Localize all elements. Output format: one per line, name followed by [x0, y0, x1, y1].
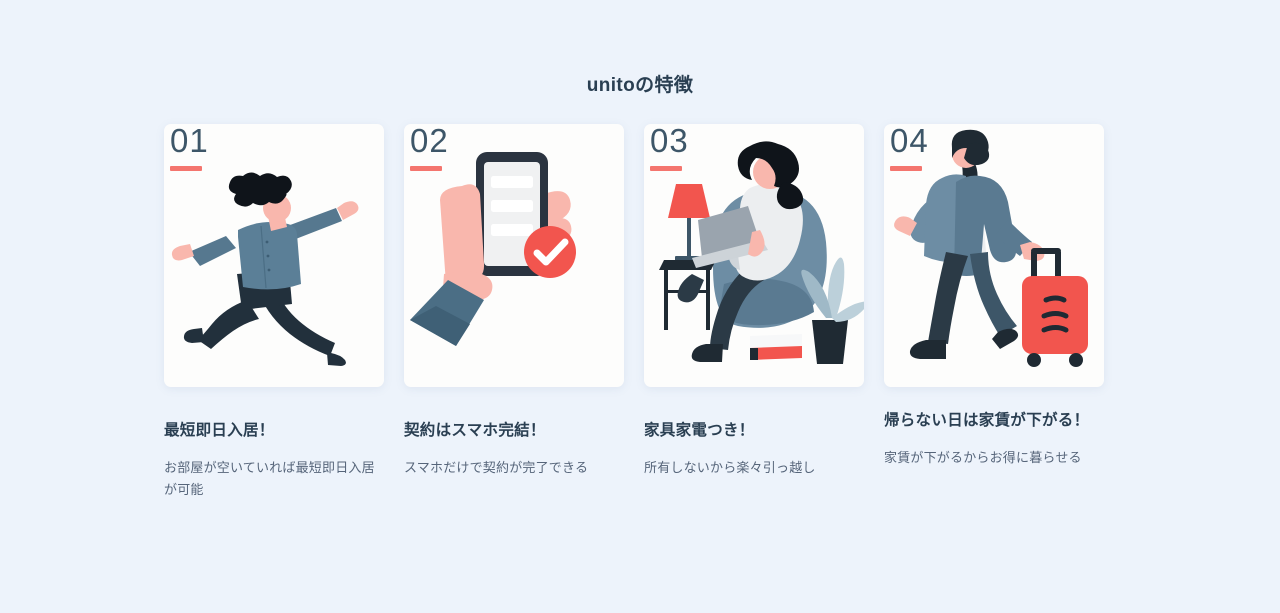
person-on-armchair-with-laptop-illustration	[644, 124, 864, 387]
feature-card[interactable]: 01	[164, 124, 384, 503]
number-underline	[410, 166, 442, 171]
card-body: お部屋が空いていれば最短即日入居が可能	[164, 457, 384, 503]
feature-card[interactable]: 04	[884, 124, 1104, 470]
card-illustration-frame	[644, 124, 864, 387]
card-number: 01	[170, 124, 384, 157]
feature-cards-row: 01	[0, 124, 1280, 503]
number-underline	[890, 166, 922, 171]
card-body: 家賃が下がるからお得に暮らせる	[884, 447, 1104, 470]
card-body: 所有しないから楽々引っ越し	[644, 457, 864, 480]
card-heading: 契約はスマホ完結！	[404, 419, 624, 443]
hand-holding-smartphone-check-illustration	[404, 124, 624, 387]
card-number: 04	[890, 124, 1104, 157]
feature-card[interactable]: 02	[404, 124, 624, 480]
card-heading: 家具家電つき！	[644, 419, 864, 443]
features-section: unitoの特徴 01	[0, 0, 1280, 613]
card-illustration-frame	[404, 124, 624, 387]
card-number: 03	[650, 124, 864, 157]
card-body: スマホだけで契約が完了できる	[404, 457, 624, 480]
card-heading: 帰らない日は家賃が下がる！	[884, 409, 1104, 433]
card-illustration-frame	[164, 124, 384, 387]
person-with-suitcase-illustration	[884, 124, 1104, 387]
card-illustration-frame	[884, 124, 1104, 387]
card-number: 02	[410, 124, 624, 157]
card-heading: 最短即日入居！	[164, 419, 384, 443]
feature-card[interactable]: 03	[644, 124, 864, 480]
number-underline	[650, 166, 682, 171]
page-title: unitoの特徴	[0, 74, 1280, 99]
number-underline	[170, 166, 202, 171]
jumping-person-illustration	[164, 124, 384, 387]
